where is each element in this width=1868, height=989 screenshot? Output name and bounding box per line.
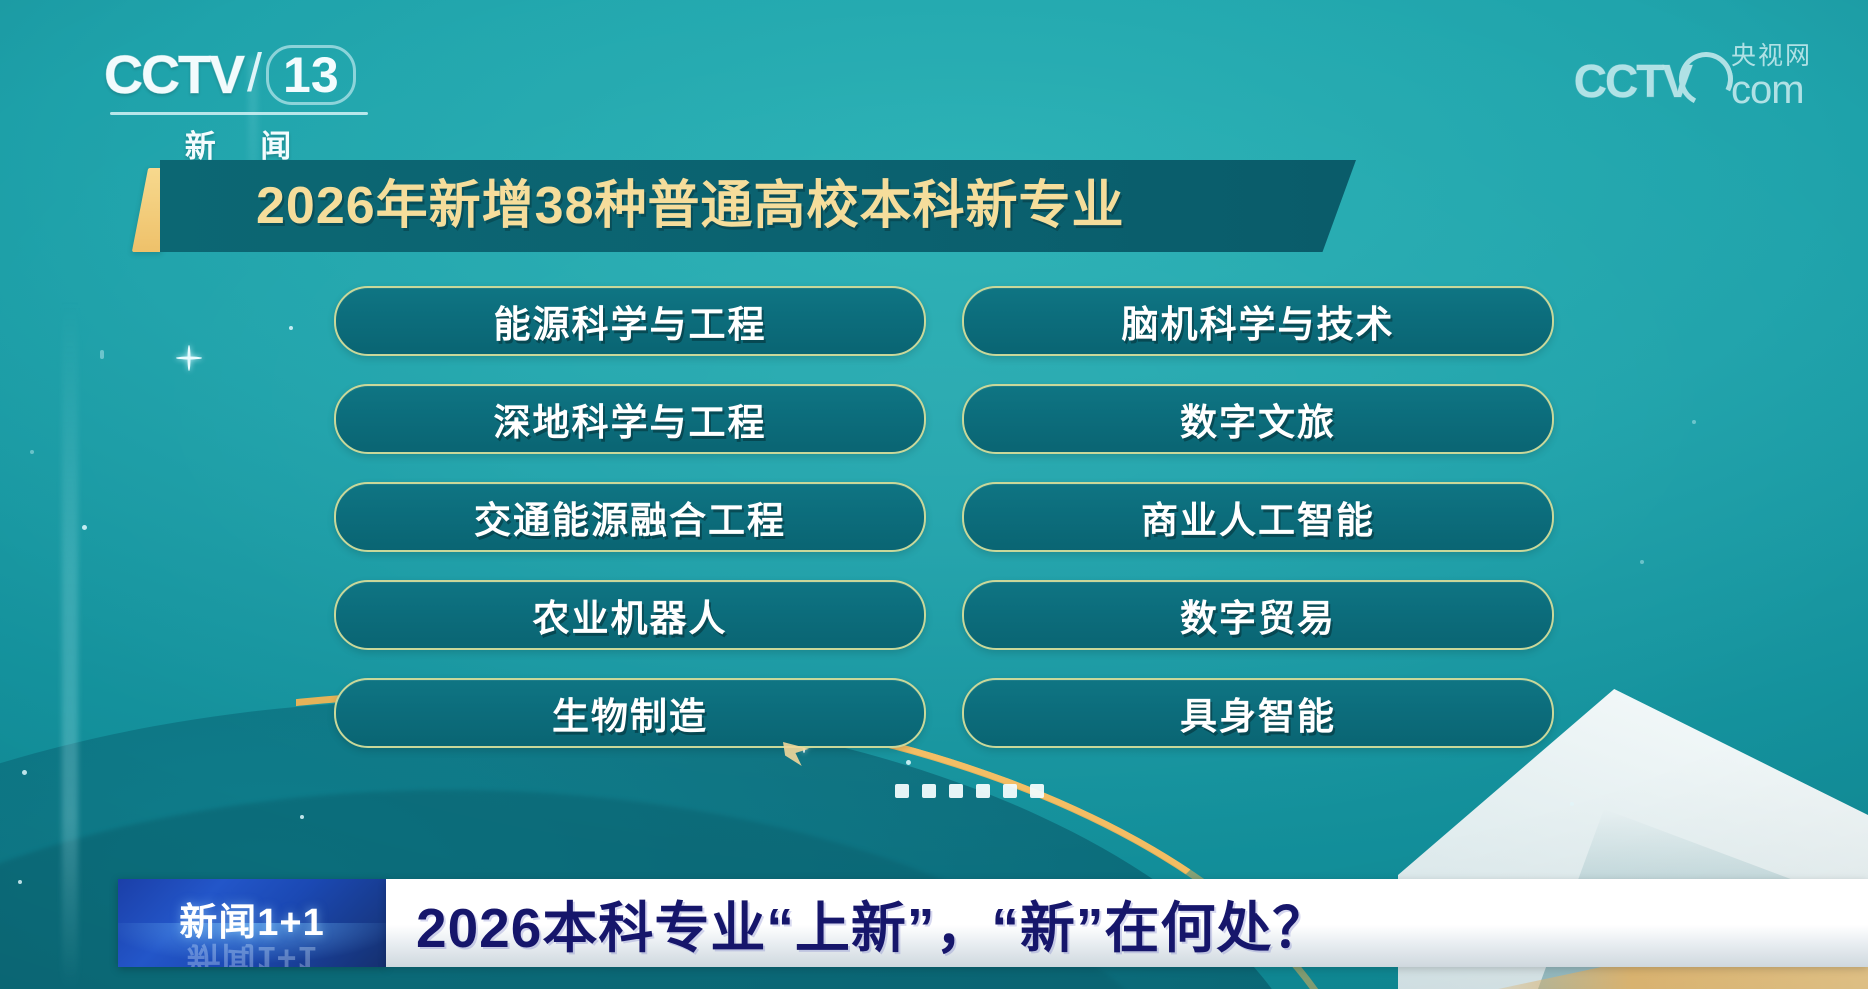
cctv-com-watermark: CCTV 央视网 com xyxy=(1574,44,1812,108)
lower-third: 新闻1+1 新闻1+1 2026本科专业“上新”，“新”在何处？ xyxy=(0,869,1868,989)
major-label: 商业人工智能 xyxy=(1141,490,1375,544)
ellipsis-dot-icon xyxy=(922,784,936,798)
channel-subtitle: 新 闻 xyxy=(104,121,372,166)
dot-icon xyxy=(1692,420,1696,424)
cctv-wordmark: CCTV xyxy=(104,44,243,106)
major-label: 具身智能 xyxy=(1180,686,1336,740)
sparkle-icon xyxy=(176,345,202,371)
watermark-cn-name: 央视网 xyxy=(1731,44,1812,69)
ellipsis-dot-icon xyxy=(1030,784,1044,798)
dot-icon xyxy=(22,770,27,775)
dot-icon xyxy=(82,525,87,530)
headline-bar: 2026本科专业“上新”，“新”在何处？ xyxy=(386,879,1868,967)
list-item[interactable]: 数字贸易 xyxy=(962,580,1554,650)
list-item[interactable]: 具身智能 xyxy=(962,678,1554,748)
major-label: 生物制造 xyxy=(552,686,708,740)
watermark-right-block: 央视网 com xyxy=(1731,44,1812,108)
channel-number: 13 xyxy=(266,45,356,105)
channel-logo-rule xyxy=(110,112,368,115)
list-item[interactable]: 交通能源融合工程 xyxy=(334,482,926,552)
major-label: 数字贸易 xyxy=(1180,588,1336,642)
watermark-domain: com xyxy=(1731,72,1804,108)
dot-icon xyxy=(906,760,911,765)
channel-logo: CCTV / 13 新 闻 xyxy=(104,44,372,166)
major-label: 脑机科学与技术 xyxy=(1122,294,1395,348)
ellipsis-dot-icon xyxy=(895,784,909,798)
program-badge-reflection: 新闻1+1 xyxy=(118,937,386,967)
ellipsis-dot-icon xyxy=(949,784,963,798)
dot-icon xyxy=(1640,560,1644,564)
major-label: 深地科学与工程 xyxy=(494,392,767,446)
list-item[interactable]: 脑机科学与技术 xyxy=(962,286,1554,356)
list-item[interactable]: 农业机器人 xyxy=(334,580,926,650)
major-label: 能源科学与工程 xyxy=(494,294,767,348)
major-label: 农业机器人 xyxy=(533,588,728,642)
list-item[interactable]: 数字文旅 xyxy=(962,384,1554,454)
dot-icon xyxy=(1570,802,1574,806)
program-badge: 新闻1+1 新闻1+1 xyxy=(118,879,386,967)
headline-text: 2026本科专业“上新”，“新”在何处？ xyxy=(416,883,1328,963)
list-item[interactable]: 深地科学与工程 xyxy=(334,384,926,454)
watermark-brand: CCTV xyxy=(1574,54,1691,108)
dot-icon xyxy=(100,350,104,359)
title-banner: 2026年新增38种普通高校本科新专业 xyxy=(160,160,1356,252)
list-item[interactable]: 生物制造 xyxy=(334,678,926,748)
list-item[interactable]: 能源科学与工程 xyxy=(334,286,926,356)
broadcast-screen: CCTV / 13 新 闻 CCTV 央视网 com 2026年新增38种普通高… xyxy=(0,0,1868,989)
more-items-ellipsis xyxy=(895,784,1044,798)
logo-slash-icon: / xyxy=(247,42,262,104)
major-label: 交通能源融合工程 xyxy=(474,490,786,544)
dot-icon xyxy=(289,326,293,330)
major-label: 数字文旅 xyxy=(1180,392,1336,446)
major-list: 能源科学与工程 脑机科学与技术 深地科学与工程 数字文旅 交通能源融合工程 商业… xyxy=(334,286,1554,748)
dot-icon xyxy=(300,815,304,819)
page-title: 2026年新增38种普通高校本科新专业 xyxy=(256,180,1125,232)
channel-logo-row: CCTV / 13 xyxy=(104,44,372,106)
ellipsis-dot-icon xyxy=(1003,784,1017,798)
dot-icon xyxy=(30,450,34,454)
ellipsis-dot-icon xyxy=(976,784,990,798)
list-item[interactable]: 商业人工智能 xyxy=(962,482,1554,552)
